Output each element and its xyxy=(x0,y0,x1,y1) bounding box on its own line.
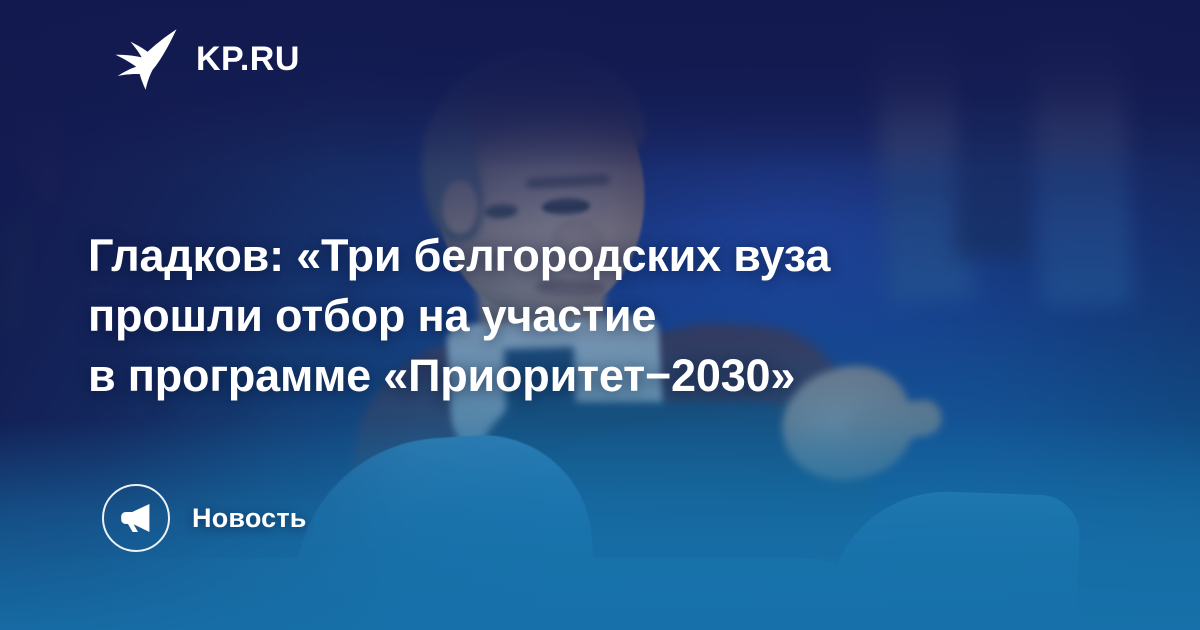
megaphone-icon xyxy=(119,503,153,533)
status-badge: Новость xyxy=(102,484,307,552)
headline-line-2: прошли отбор на участие xyxy=(88,286,1078,346)
brand-logo[interactable]: KP.RU xyxy=(106,28,300,90)
badge-label: Новость xyxy=(192,503,307,534)
page-title: Гладков: «Три белгородских вуза прошли о… xyxy=(88,226,1078,406)
headline-line-3: в программе «Приоритет−2030» xyxy=(88,346,1078,406)
brand-name: KP.RU xyxy=(196,42,300,76)
card-content: KP.RU Гладков: «Три белгородских вуза пр… xyxy=(0,0,1200,630)
social-share-card: KP.RU Гладков: «Три белгородских вуза пр… xyxy=(0,0,1200,630)
headline-line-1: Гладков: «Три белгородских вуза xyxy=(88,226,1078,286)
swallow-bird-icon xyxy=(106,28,178,90)
badge-icon-circle xyxy=(102,484,170,552)
